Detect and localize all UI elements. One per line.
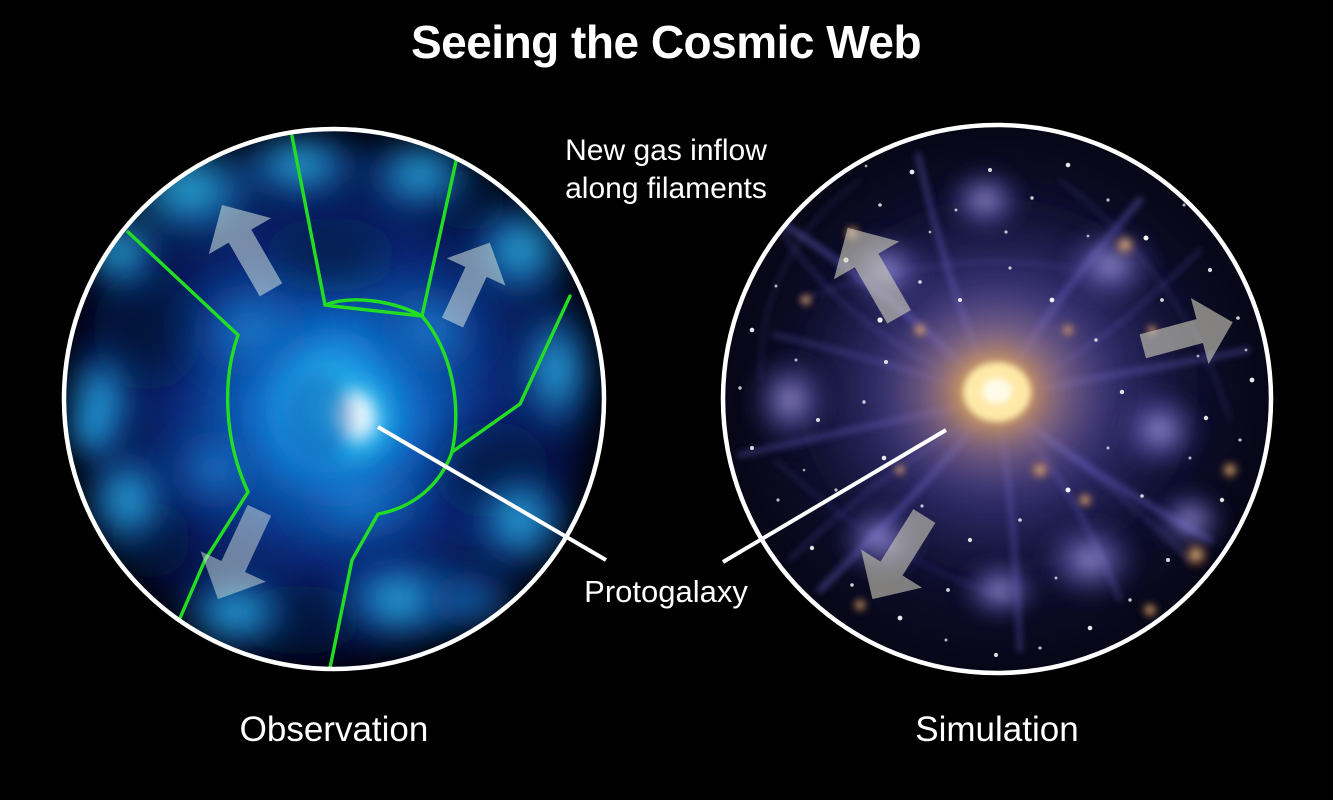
protogalaxy-label: Protogalaxy	[584, 574, 748, 609]
cosmic-web-figure: Seeing the Cosmic Web New gas inflow alo…	[0, 0, 1333, 800]
caption-observation: Observation	[240, 710, 429, 749]
infographic-canvas: Seeing the Cosmic Web New gas inflow alo…	[0, 0, 1333, 800]
inflow-annotation-line1: New gas inflow	[565, 134, 767, 167]
simulation-image	[724, 126, 1270, 672]
panel-simulation[interactable]	[723, 125, 1271, 673]
panel-observation[interactable]	[60, 125, 604, 669]
inflow-annotation-line2: along filaments	[565, 172, 767, 205]
page-title: Seeing the Cosmic Web	[411, 16, 921, 68]
caption-simulation: Simulation	[915, 710, 1078, 749]
simulation-protogalaxy-core	[875, 286, 1115, 498]
observation-protogalaxy-core	[208, 302, 464, 538]
